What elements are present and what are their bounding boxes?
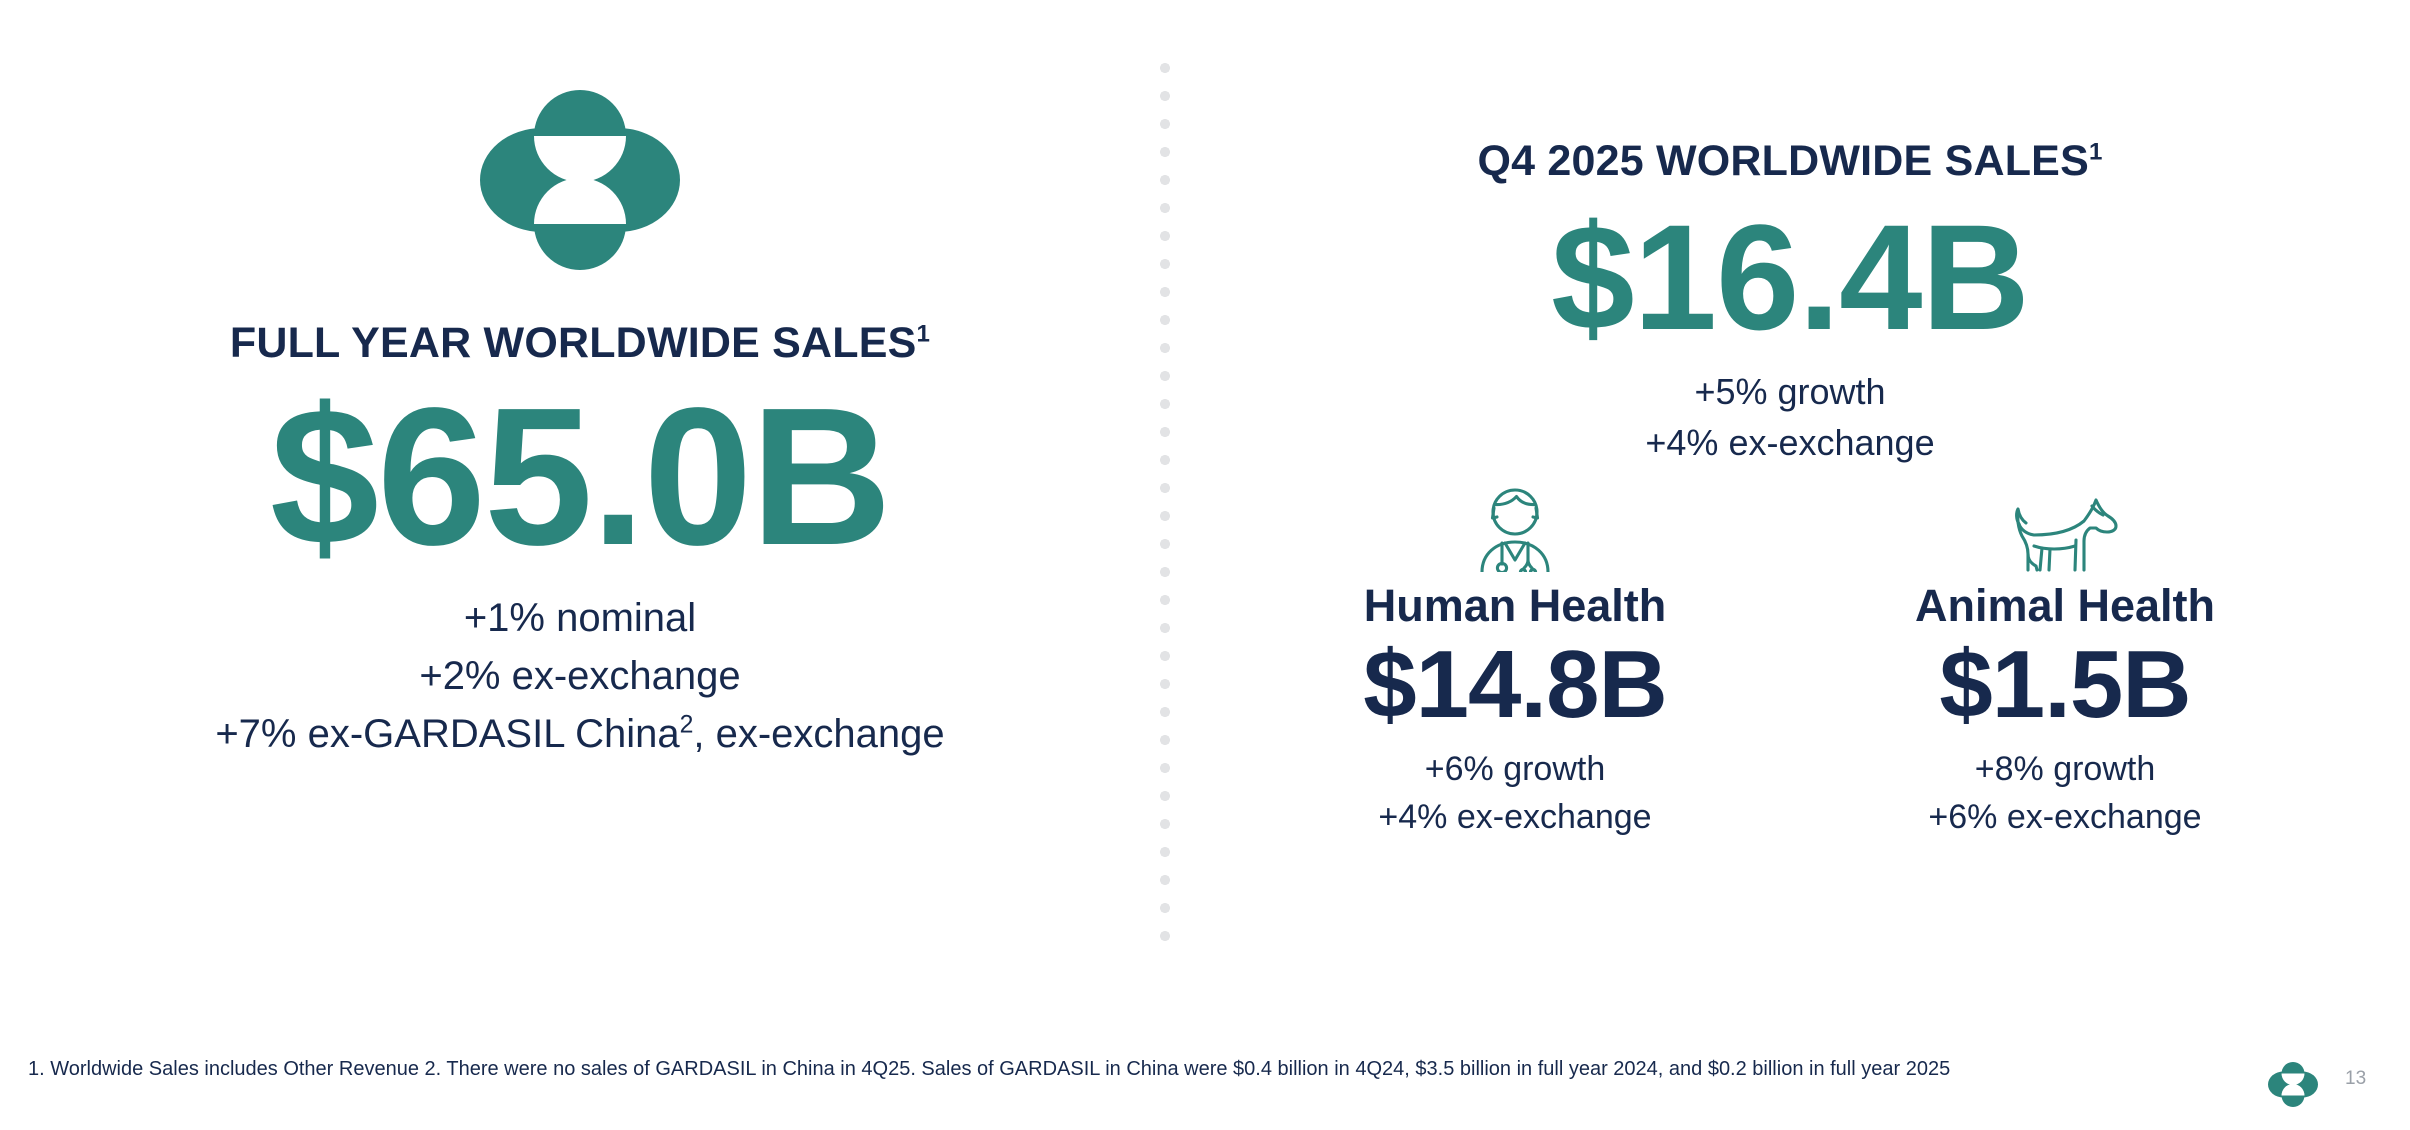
animal-health-value: $1.5B	[1875, 631, 2255, 739]
human-health-growth: +6% growth +4% ex-exchange	[1325, 745, 1705, 842]
animal-health-growth-line-2: +6% ex-exchange	[1875, 793, 2255, 841]
footer-divider	[0, 1032, 2410, 1033]
gardasil-prefix: +7% ex-GARDASIL China	[215, 712, 679, 756]
human-health-icon-wrap	[1325, 480, 1705, 572]
q4-panel: Q4 2025 WORLDWIDE SALES1 $16.4B +5% grow…	[1170, 140, 2410, 468]
animal-health-growth-line-1: +8% growth	[1875, 745, 2255, 793]
segment-animal-health: Animal Health $1.5B +8% growth +6% ex-ex…	[1875, 480, 2255, 841]
q4-growth-line-2: +4% ex-exchange	[1170, 417, 2410, 468]
full-year-panel: FULL YEAR WORLDWIDE SALES1 $65.0B +1% no…	[0, 90, 1160, 764]
full-year-headline-superscript: 1	[917, 321, 931, 348]
animal-health-growth: +8% growth +6% ex-exchange	[1875, 745, 2255, 842]
segment-columns: Human Health $14.8B +6% growth +4% ex-ex…	[1170, 480, 2410, 841]
human-health-growth-line-2: +4% ex-exchange	[1325, 793, 1705, 841]
full-year-growth-line-2: +2% ex-exchange	[0, 647, 1160, 705]
human-health-value: $14.8B	[1325, 631, 1705, 739]
segment-human-health: Human Health $14.8B +6% growth +4% ex-ex…	[1325, 480, 1705, 841]
full-year-growth-line-3: +7% ex-GARDASIL China2, ex-exchange	[0, 705, 1160, 763]
dog-icon	[2006, 484, 2124, 572]
q4-headline-text: Q4 2025 WORLDWIDE SALES	[1477, 137, 2089, 185]
full-year-growth-line-1: +1% nominal	[0, 589, 1160, 647]
human-health-growth-line-1: +6% growth	[1325, 745, 1705, 793]
gardasil-superscript: 2	[680, 712, 694, 739]
q4-headline: Q4 2025 WORLDWIDE SALES1	[1170, 140, 2410, 183]
merck-logo	[480, 90, 680, 270]
q4-growth-lines: +5% growth +4% ex-exchange	[1170, 366, 2410, 468]
q4-value: $16.4B	[1170, 191, 2410, 364]
q4-growth-line-1: +5% growth	[1170, 366, 2410, 417]
animal-health-label: Animal Health	[1875, 582, 2255, 629]
gardasil-suffix: , ex-exchange	[693, 712, 944, 756]
full-year-headline: FULL YEAR WORLDWIDE SALES1	[0, 322, 1160, 365]
page-number: 13	[2345, 1068, 2366, 1090]
footnote-text: 1. Worldwide Sales includes Other Revenu…	[28, 1055, 2208, 1083]
full-year-growth-lines: +1% nominal +2% ex-exchange +7% ex-GARDA…	[0, 589, 1160, 764]
doctor-icon	[1463, 484, 1567, 572]
animal-health-icon-wrap	[1875, 480, 2255, 572]
full-year-headline-text: FULL YEAR WORLDWIDE SALES	[230, 319, 917, 367]
merck-logo-small	[2268, 1062, 2318, 1107]
slide-root: FULL YEAR WORLDWIDE SALES1 $65.0B +1% no…	[0, 0, 2410, 1130]
q4-headline-superscript: 1	[2089, 139, 2103, 166]
full-year-value: $65.0B	[0, 371, 1160, 583]
human-health-label: Human Health	[1325, 582, 1705, 629]
